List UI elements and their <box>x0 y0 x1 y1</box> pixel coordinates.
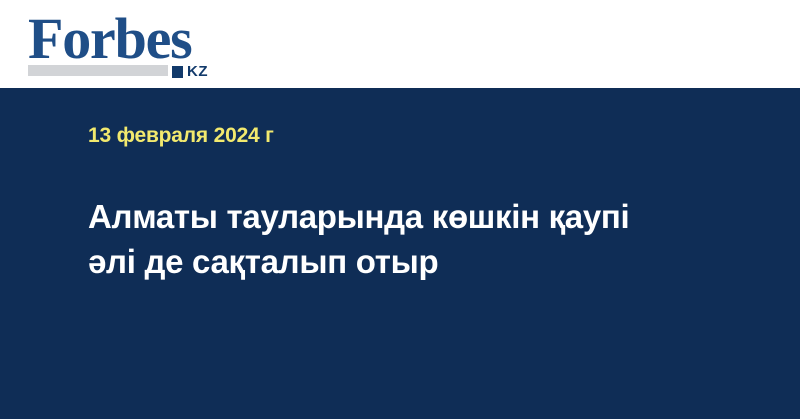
forbes-kz-logo[interactable]: Forbes KZ <box>28 10 238 80</box>
article-hero: 13 февраля 2024 г Алматы тауларында көшк… <box>0 88 800 419</box>
site-header: Forbes KZ <box>0 0 800 88</box>
article-card: Forbes KZ 13 февраля 2024 г Алматы таула… <box>0 0 800 419</box>
logo-rule <box>28 65 168 76</box>
article-date: 13 февраля 2024 г <box>88 124 274 148</box>
logo-kz-label: KZ <box>187 64 208 79</box>
article-headline: Алматы тауларында көшкін қаупі әлі де са… <box>88 194 728 284</box>
article-headline-line-1: Алматы тауларында көшкін қаупі <box>88 194 728 239</box>
forbes-wordmark: Forbes <box>28 10 192 68</box>
article-headline-line-2: әлі де сақталып отыр <box>88 239 728 284</box>
logo-kz-group: KZ <box>172 64 208 79</box>
navy-square-icon <box>172 66 183 78</box>
